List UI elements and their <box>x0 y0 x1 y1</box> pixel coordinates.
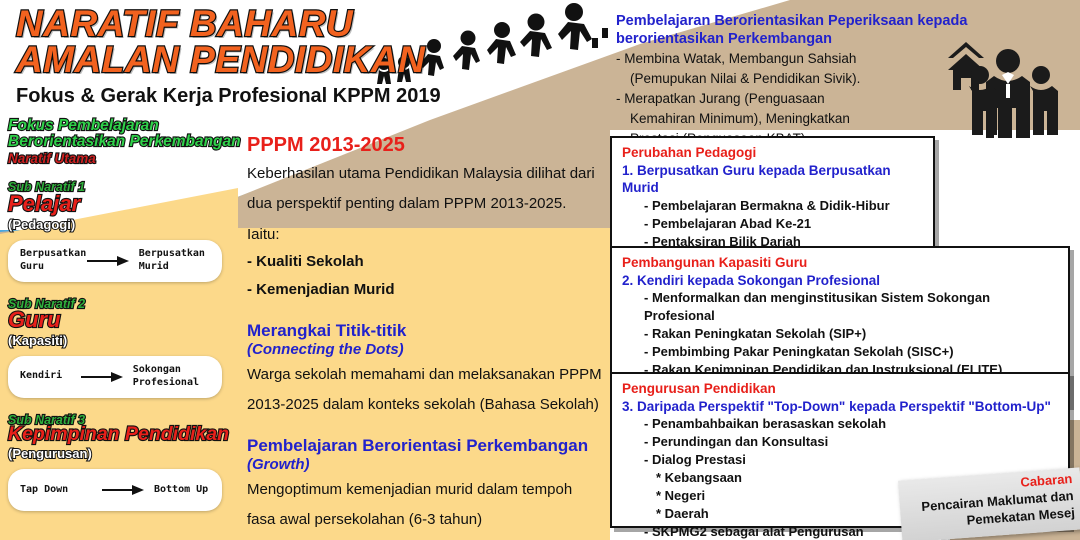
growth-subheading: (Growth) <box>247 456 607 473</box>
pppm-para-1: Keberhasilan utama Pendidikan Malaysia d… <box>247 161 607 187</box>
box3-category: Pengurusan Pendidikan <box>622 380 1060 398</box>
box1-category: Perubahan Pedagogi <box>622 144 925 162</box>
pill-pelajar-to: Berpusatkan Murid <box>129 248 222 273</box>
title-line-1: NARATIF BAHARU <box>16 6 441 42</box>
sub-naratif-1-paren: (Pedagogi) <box>8 217 244 232</box>
pill-guru-to: Sokongan Profesional <box>123 364 222 389</box>
dots-subheading: (Connecting the Dots) <box>247 341 607 358</box>
box1-heading: 1. Berpusatkan Guru kepada Berpusatkan M… <box>622 162 925 197</box>
sidebar-item-guru[interactable]: Sub Naratif 2 Guru (Kapasiti) Kendiri So… <box>8 298 244 398</box>
house-and-people-icon <box>944 34 1070 151</box>
sub-naratif-3-paren: (Pengurusan) <box>8 446 244 461</box>
pppm-bullet-2: - Kemenjadian Murid <box>247 276 607 304</box>
pill-pelajar[interactable]: Berpusatkan Guru Berpusatkan Murid <box>8 240 222 282</box>
cabaran-badge: Cabaran Pencairan Maklumat dan Pemekatan… <box>898 467 1080 540</box>
pill-kepimpinan[interactable]: Tap Down Bottom Up <box>8 469 222 511</box>
middle-column: PPPM 2013-2025 Keberhasilan utama Pendid… <box>247 134 607 533</box>
focus-heading-line-2: Berorientasikan Perkembangan <box>8 134 244 150</box>
box2-item-2: - Rakan Peningkatan Sekolah (SIP+) <box>622 325 1060 343</box>
pppm-heading: PPPM 2013-2025 <box>247 134 607 157</box>
pill-guru-from: Kendiri <box>8 370 81 383</box>
pill-guru[interactable]: Kendiri Sokongan Profesional <box>8 356 222 398</box>
infographic-poster: NARATIF BAHARU AMALAN PENDIDIKAN Fokus &… <box>0 0 1080 540</box>
box3-heading: 3. Daripada Perspektif "Top-Down" kepada… <box>622 398 1060 416</box>
dots-para-1: Warga sekolah memahami dan melaksanakan … <box>247 362 607 388</box>
sidebar-item-pelajar[interactable]: Sub Naratif 1 Pelajar (Pedagogi) Berpusa… <box>8 181 244 281</box>
naratif-utama-label: Naratif Utama <box>8 152 244 166</box>
pppm-para-2: dua perspektif penting dalam PPPM 2013-2… <box>247 191 607 217</box>
pill-pelajar-from: Berpusatkan Guru <box>8 248 87 273</box>
growth-heading: Pembelajaran Berorientasi Perkembangan <box>247 436 607 456</box>
pppm-para-3: Iaitu: <box>247 222 607 248</box>
focus-heading-line-1: Fokus Pembelajaran <box>8 118 244 134</box>
box2-heading: 2. Kendiri kepada Sokongan Profesional <box>622 272 1060 290</box>
poster-subtitle: Fokus & Gerak Kerja Profesional KPPM 201… <box>16 85 441 108</box>
arrow-right-icon <box>87 255 129 267</box>
dots-heading: Merangkai Titik-titik <box>247 321 607 341</box>
arrow-right-icon <box>81 371 123 383</box>
pppm-bullet-1: - Kualiti Sekolah <box>247 248 607 276</box>
box2-item-1: - Menformalkan dan menginstitusikan Sist… <box>622 289 1060 325</box>
sub-naratif-1-title: Pelajar <box>8 193 244 215</box>
box3-item-1: - Penambahbaikan berasaskan sekolah <box>622 415 1060 433</box>
sub-naratif-3-title: Kepimpinan Pendidikan <box>8 425 244 445</box>
box2-category: Pembangunan Kapasiti Guru <box>622 254 1060 272</box>
arrow-right-icon <box>102 484 144 496</box>
sidebar-item-kepimpinan[interactable]: Sub Naratif 3 Kepimpinan Pendidikan (Pen… <box>8 414 244 512</box>
box1-item-1: - Pembelajaran Bermakna & Didik-Hibur <box>622 197 925 215</box>
pill-kepimpinan-to: Bottom Up <box>144 484 208 497</box>
sub-naratif-2-title: Guru <box>8 309 244 331</box>
box2-item-3: - Pembimbing Pakar Peningkatan Sekolah (… <box>622 343 1060 361</box>
title-line-2: AMALAN PENDIDIKAN <box>16 42 441 78</box>
sub-naratif-2-paren: (Kapasiti) <box>8 333 244 348</box>
growth-para-2: fasa awal persekolahan (6-3 tahun) <box>247 507 607 533</box>
right-heading-line-1: Pembelajaran Berorientasikan Peperiksaan… <box>616 12 1016 30</box>
poster-title-block: NARATIF BAHARU AMALAN PENDIDIKAN Fokus &… <box>16 6 441 108</box>
pill-kepimpinan-from: Tap Down <box>8 484 102 497</box>
dots-para-2: 2013-2025 dalam konteks sekolah (Bahasa … <box>247 392 607 418</box>
left-sidebar: Fokus Pembelajaran Berorientasikan Perke… <box>8 118 244 511</box>
box1-item-2: - Pembelajaran Abad Ke-21 <box>622 215 925 233</box>
box3-item-3: - Dialog Prestasi <box>622 451 1060 469</box>
box3-item-2: - Perundingan dan Konsultasi <box>622 433 1060 451</box>
growth-para-1: Mengoptimum kemenjadian murid dalam temp… <box>247 477 607 503</box>
